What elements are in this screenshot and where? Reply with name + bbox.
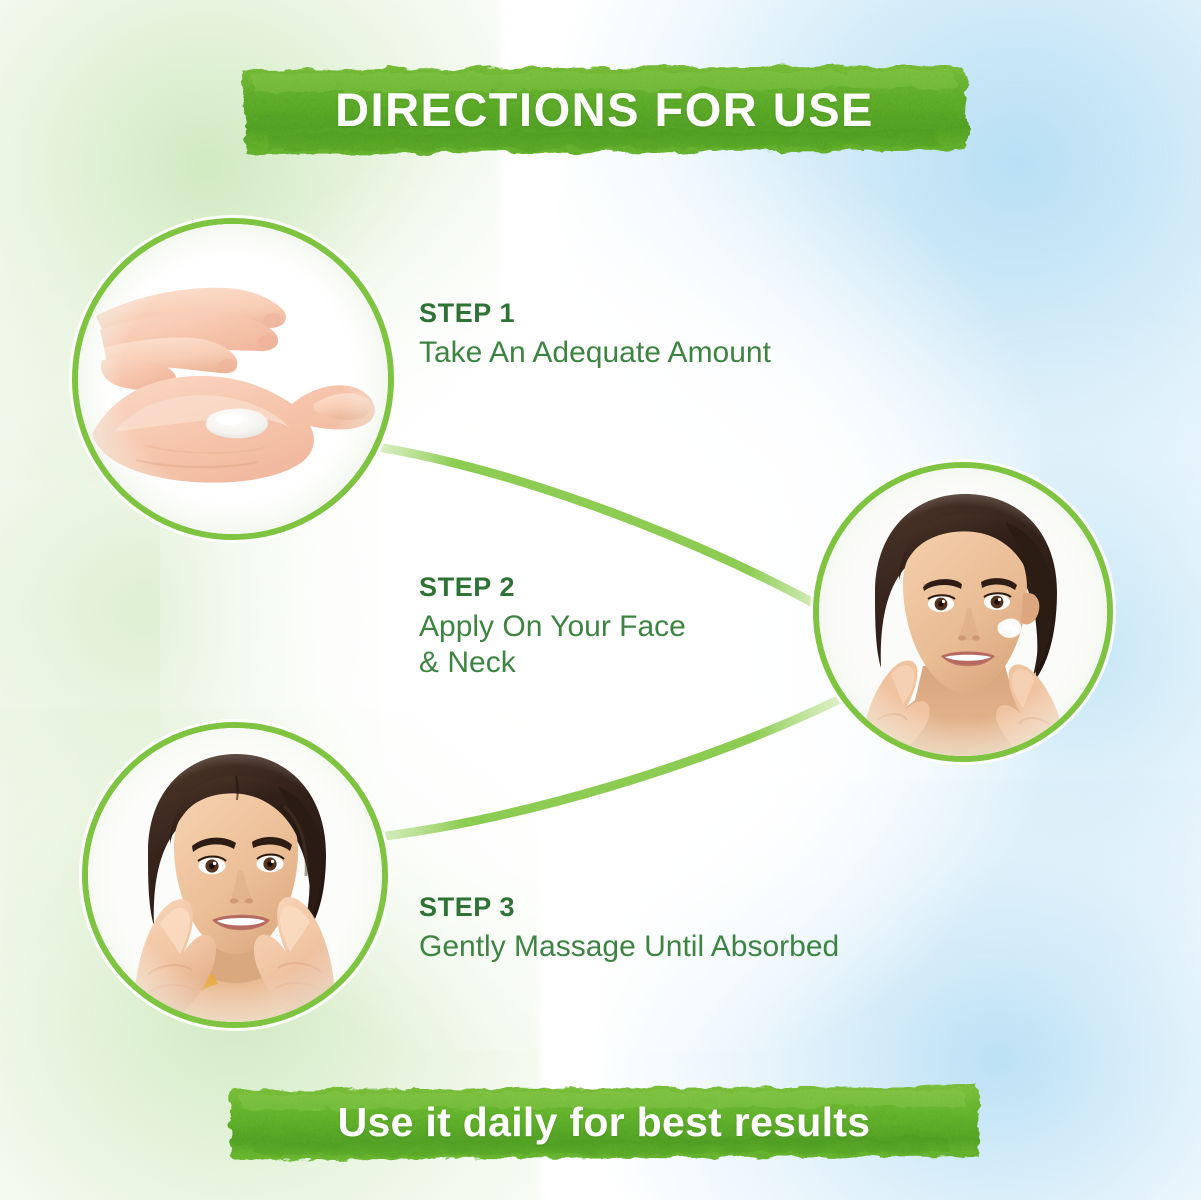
step-1-heading: STEP 1 (419, 299, 939, 329)
directions-for-use-poster: DIRECTIONS FOR USE (0, 0, 1201, 1200)
woman-applying-cream-illustration (819, 468, 1107, 756)
step-3-description: Gently Massage Until Absorbed (419, 929, 979, 966)
footer-banner-label: Use it daily for best results (338, 1099, 871, 1146)
step-2-description-line-1: Apply On Your Face (419, 609, 819, 646)
step-2-heading: STEP 2 (419, 573, 819, 603)
woman-cupping-face-illustration (88, 728, 382, 1022)
step-2-text-block: STEP 2 Apply On Your Face & Neck (419, 573, 819, 682)
footer-banner: Use it daily for best results (224, 1080, 984, 1164)
step-2-photo (819, 468, 1107, 756)
step-1-photo (78, 224, 388, 534)
step-2-photo-circle (813, 462, 1113, 762)
step-3-photo-circle (82, 722, 388, 1028)
step-1-description: Take An Adequate Amount (419, 335, 939, 372)
header-banner: DIRECTIONS FOR USE (237, 58, 972, 160)
step-1-photo-circle (72, 218, 394, 540)
step-3-photo (88, 728, 382, 1022)
hands-with-cream-illustration (78, 224, 388, 534)
step-3-heading: STEP 3 (419, 893, 979, 923)
step-1-text-block: STEP 1 Take An Adequate Amount (419, 299, 939, 371)
step-3-text-block: STEP 3 Gently Massage Until Absorbed (419, 893, 979, 965)
connector-step2-to-step3 (370, 700, 838, 838)
header-banner-label: DIRECTIONS FOR USE (335, 82, 874, 137)
step-2-description-line-2: & Neck (419, 645, 819, 682)
